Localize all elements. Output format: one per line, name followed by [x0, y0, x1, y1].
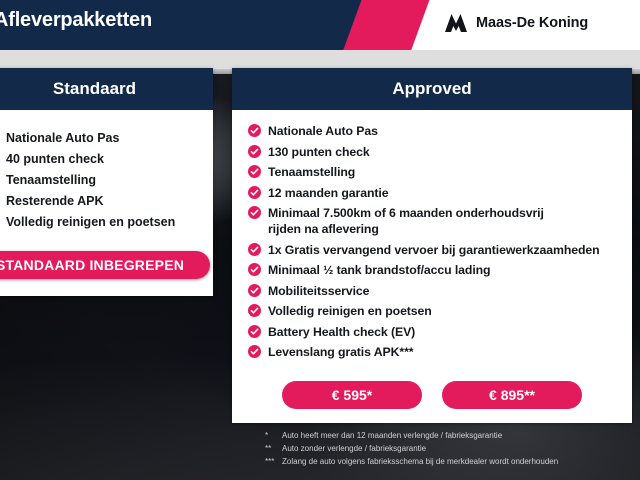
check-circle-icon	[248, 345, 261, 358]
check-circle-icon	[248, 165, 261, 178]
page-title: Afleverpakketten	[0, 9, 152, 32]
price-button-row: € 595* € 895**	[232, 381, 632, 409]
list-item: Levenslang gratis APK***	[232, 344, 632, 360]
list-item: 12 maanden garantie	[232, 185, 632, 201]
background-light-band	[0, 50, 640, 69]
list-item: Volledig reinigen en poetsen	[232, 303, 632, 319]
footnote-marker: ***	[258, 456, 282, 467]
list-item-label: 12 maanden garantie	[268, 185, 388, 201]
check-circle-icon	[248, 304, 261, 317]
check-circle-icon	[248, 124, 261, 137]
list-item: Nationale Auto Pas	[0, 128, 213, 149]
list-item: Mobiliteitsservice	[232, 283, 632, 299]
list-item: Minimaal ½ tank brandstof/accu lading	[232, 262, 632, 278]
brand-logo: Maas-De Koning	[443, 13, 588, 33]
list-item-label: Levenslang gratis APK***	[268, 344, 413, 360]
list-item-label: Battery Health check (EV)	[268, 324, 415, 340]
list-item: 130 punten check	[232, 144, 632, 160]
list-item: Battery Health check (EV)	[232, 324, 632, 340]
approved-feature-list: Nationale Auto Pas 130 punten check	[232, 110, 632, 360]
list-item: Volledig reinigen en poetsen	[0, 212, 213, 233]
footnote-text: Auto heeft meer dan 12 maanden verlengde…	[282, 430, 502, 441]
footnote-row: ** Auto zonder verlengde / fabrieksgaran…	[258, 443, 638, 454]
list-item-label: Minimaal 7.500km of 6 maanden onderhouds…	[268, 205, 544, 237]
list-item-label: Mobiliteitsservice	[268, 283, 369, 299]
approved-card: Approved Nationale Auto Pas 130 punten c…	[232, 68, 632, 423]
price-button-595[interactable]: € 595*	[282, 381, 422, 409]
footnote-row: *** Zolang de auto volgens fabrieksschem…	[258, 456, 638, 467]
standaard-included-badge[interactable]: STANDAARD INBEGREPEN	[0, 251, 210, 279]
standaard-feature-list: Nationale Auto Pas 40 punten check Tenaa…	[0, 110, 213, 233]
list-item: Tenaamstelling	[232, 164, 632, 180]
footnotes: * Auto heeft meer dan 12 maanden verleng…	[258, 430, 638, 469]
list-item: Minimaal 7.500km of 6 maanden onderhouds…	[232, 205, 632, 237]
list-item: 40 punten check	[0, 149, 213, 170]
list-item-label: Minimaal ½ tank brandstof/accu lading	[268, 262, 490, 278]
check-circle-icon	[248, 186, 261, 199]
page-header: Afleverpakketten Maas-De Koning	[0, 0, 640, 50]
check-circle-icon	[248, 145, 261, 158]
list-item: Resterende APK	[0, 191, 213, 212]
promo-page: Afleverpakketten Maas-De Koning Standaar…	[0, 0, 640, 480]
brand-name: Maas-De Koning	[476, 15, 588, 31]
list-item-label: Volledig reinigen en poetsen	[268, 303, 432, 319]
list-item: Nationale Auto Pas	[232, 123, 632, 139]
list-item: 1x Gratis vervangend vervoer bij garanti…	[232, 242, 632, 258]
maas-de-koning-m-logo-icon	[443, 13, 469, 33]
check-circle-icon	[248, 206, 261, 219]
list-item: Tenaamstelling	[0, 170, 213, 191]
list-item-label: Tenaamstelling	[268, 164, 355, 180]
check-circle-icon	[248, 284, 261, 297]
footnote-text: Auto zonder verlengde / fabrieksgarantie	[282, 443, 426, 454]
standaard-card-title: Standaard	[0, 68, 213, 110]
approved-card-title: Approved	[232, 68, 632, 110]
check-circle-icon	[248, 325, 261, 338]
check-circle-icon	[248, 243, 261, 256]
list-item-label: 1x Gratis vervangend vervoer bij garanti…	[268, 242, 600, 258]
list-item-label: 130 punten check	[268, 144, 370, 160]
footnote-marker: **	[258, 443, 282, 454]
price-button-895[interactable]: € 895**	[442, 381, 582, 409]
footnote-row: * Auto heeft meer dan 12 maanden verleng…	[258, 430, 638, 441]
list-item-label: Nationale Auto Pas	[268, 123, 378, 139]
footnote-marker: *	[258, 430, 282, 441]
check-circle-icon	[248, 263, 261, 276]
footnote-text: Zolang de auto volgens fabrieksschema bi…	[282, 456, 558, 467]
